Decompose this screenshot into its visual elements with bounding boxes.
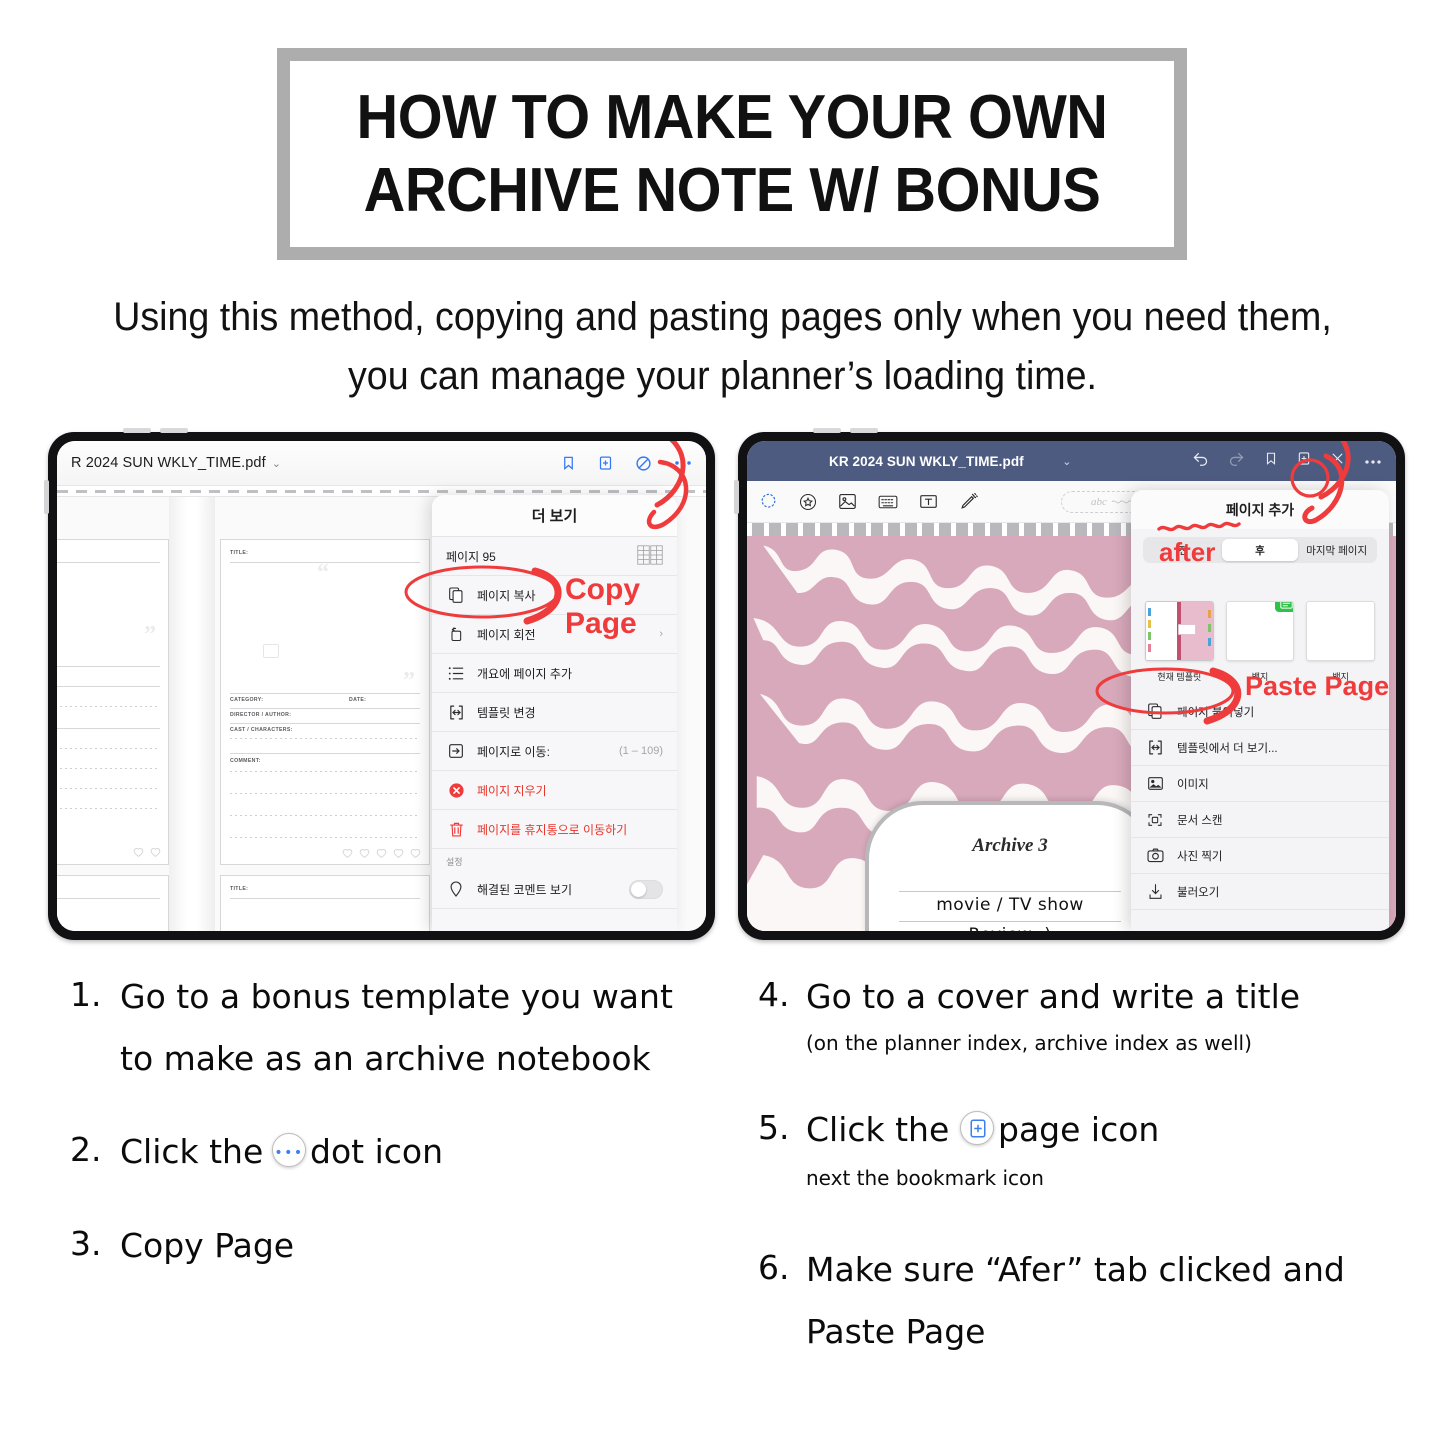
volume-button-down [850, 428, 878, 433]
copy-page-icon [446, 587, 466, 604]
menu-item-label: 개요에 페이지 추가 [477, 665, 572, 682]
heart-icon [409, 846, 422, 859]
menu-item-label: 템플릿에서 더 보기... [1177, 740, 1278, 756]
step-text-pre: Click the [806, 1108, 949, 1152]
page-range-label: (1 – 109) [619, 745, 663, 757]
trash-icon [446, 821, 466, 838]
heart-icon [358, 846, 371, 859]
step-text-line-2: Paste Page [806, 1310, 985, 1354]
undo-icon[interactable] [1192, 451, 1209, 471]
document-scan-icon [1145, 812, 1165, 828]
thumbnail-current-template[interactable] [1145, 601, 1214, 661]
left-tablet: ” [48, 432, 715, 940]
menu-section-settings: 설정 [432, 849, 677, 870]
field-label-title: TITLE: [230, 886, 248, 892]
more-dots-icon[interactable] [674, 460, 692, 466]
more-menu-popup: 더 보기 페이지 95 페이지 복사 [432, 495, 677, 931]
field-label-date: DATE: [349, 697, 366, 703]
step-text-line-1: Go to a bonus template you want [120, 975, 673, 1019]
field-label-comment: COMMENT: [230, 758, 261, 764]
redo-icon[interactable] [1228, 451, 1245, 471]
step-subtext: next the bookmark icon [806, 1165, 1044, 1191]
menu-item-import[interactable]: 불러오기 [1131, 874, 1389, 910]
segment-last-page[interactable]: 마지막 페이지 [1298, 539, 1375, 561]
add-page-icon[interactable] [960, 1111, 994, 1145]
page-title-line-1: HOW TO MAKE YOUR OWN [321, 81, 1143, 154]
selected-badge-icon [1275, 601, 1294, 612]
menu-item-label: 페이지 회전 [477, 626, 536, 643]
volume-button-up [813, 428, 841, 433]
annotation-paste-page-text: Paste Page [1245, 671, 1389, 702]
menu-item-label: 이미지 [1177, 776, 1209, 792]
menu-item-label: 문서 스캔 [1177, 812, 1223, 828]
comment-pin-icon [446, 880, 466, 898]
field-label-cast: CAST / CHARACTERS: [230, 727, 293, 733]
change-template-icon [446, 704, 466, 721]
page-grid-icon[interactable] [637, 545, 663, 568]
power-button [44, 480, 49, 514]
more-menu-title: 더 보기 [432, 495, 677, 537]
close-icon[interactable] [1330, 451, 1345, 471]
menu-page-indicator: 페이지 95 [432, 537, 677, 576]
image-placeholder-icon [263, 644, 279, 658]
text-box-icon[interactable] [919, 493, 938, 510]
heart-icon [149, 845, 162, 858]
right-tablet: Archive 3 movie / TV show Review :) [738, 432, 1405, 940]
step-text-post: page icon [998, 1108, 1159, 1152]
menu-item-label: 페이지로 이동: [477, 743, 550, 760]
page-number-label: 페이지 95 [446, 548, 496, 565]
page-subtitle-line-2: you can manage your planner’s loading ti… [100, 347, 1346, 406]
import-icon [1145, 883, 1165, 900]
cover-handwriting-line-1: movie / TV show [869, 895, 1151, 915]
document-gutter [169, 497, 215, 931]
menu-item-label: 페이지를 휴지통으로 이동하기 [477, 821, 627, 838]
rating-hearts [132, 845, 162, 858]
more-dots-icon[interactable]: ••• [272, 1133, 306, 1167]
thumbnail-label: 현재 템플릿 [1145, 670, 1214, 683]
edit-mode-icon[interactable] [635, 455, 652, 472]
step-text-line-1: Copy Page [120, 1224, 294, 1268]
menu-item-image[interactable]: 이미지 [1131, 766, 1389, 802]
doc-page-card-partial-left: ” [57, 539, 169, 865]
right-filename[interactable]: KR 2024 SUN WKLY_TIME.pdf [829, 454, 1024, 469]
archive-cover-title: Archive 3 [869, 835, 1151, 857]
menu-item-label: 불러오기 [1177, 884, 1219, 900]
menu-item-change-template[interactable]: 템플릿 변경 [432, 693, 677, 732]
page-title-box: HOW TO MAKE YOUR OWN ARCHIVE NOTE W/ BON… [277, 48, 1187, 260]
poster-root: HOW TO MAKE YOUR OWN ARCHIVE NOTE W/ BON… [0, 0, 1445, 1445]
step-number: 6. [758, 1248, 790, 1287]
add-page-icon[interactable] [598, 454, 613, 472]
field-label-director: DIRECTOR / AUTHOR: [230, 712, 291, 718]
menu-item-document-scan[interactable]: 문서 스캔 [1131, 802, 1389, 838]
field-label-title: TITLE: [230, 550, 248, 556]
left-tablet-screen: ” [57, 441, 706, 931]
menu-item-label: 해결된 코멘트 보기 [477, 881, 572, 898]
menu-item-label: 템플릿 변경 [477, 704, 536, 721]
thumbnail-blank-2[interactable] [1306, 601, 1375, 661]
annotation-copy-page-text: Copy Page [565, 573, 706, 641]
annotation-after-text: after [1159, 537, 1215, 568]
step-text-line-1: Go to a cover and write a title [806, 975, 1300, 1019]
chevron-down-icon[interactable]: ⌄ [1062, 455, 1071, 468]
heart-icon [375, 846, 388, 859]
menu-item-more-templates[interactable]: 템플릿에서 더 보기... [1131, 730, 1389, 766]
step-text-line-1: Make sure “Afer” tab clicked and [806, 1248, 1345, 1292]
volume-button-up [123, 428, 151, 433]
menu-item-goto-page[interactable]: 페이지로 이동: (1 – 109) [432, 732, 677, 771]
cover-handwriting-line-2: Review :) [869, 925, 1151, 931]
bookmark-icon[interactable] [561, 454, 576, 472]
keyboard-icon[interactable] [878, 494, 898, 510]
power-button [734, 480, 739, 514]
menu-item-label: 페이지 지우기 [477, 782, 547, 799]
step-number: 4. [758, 975, 790, 1014]
more-templates-icon [1145, 739, 1165, 756]
page-title-line-2: ARCHIVE NOTE W/ BONUS [321, 154, 1143, 227]
step-text-pre: Click the [120, 1130, 263, 1174]
paste-page-icon [1145, 703, 1165, 720]
step-number: 1. [70, 975, 102, 1014]
left-filename[interactable]: R 2024 SUN WKLY_TIME.pdf [71, 455, 266, 471]
heart-icon [392, 846, 405, 859]
add-page-icon[interactable] [1297, 450, 1311, 472]
rotate-page-icon [446, 626, 466, 643]
bookmark-icon[interactable] [1264, 450, 1278, 472]
chevron-down-icon[interactable]: ⌄ [272, 457, 281, 470]
camera-icon [1145, 848, 1165, 863]
outline-add-icon [446, 666, 466, 681]
step-subtext: (on the planner index, archive index as … [806, 1030, 1252, 1056]
resolved-comments-toggle[interactable] [629, 880, 663, 899]
step-text-post: dot icon [310, 1130, 443, 1174]
menu-item-take-photo[interactable]: 사진 찍기 [1131, 838, 1389, 874]
menu-item-show-resolved-comments[interactable]: 해결된 코멘트 보기 [432, 870, 677, 909]
heart-icon [132, 845, 145, 858]
highlighter-icon[interactable] [959, 492, 978, 511]
volume-button-down [160, 428, 188, 433]
right-tablet-screen: Archive 3 movie / TV show Review :) [747, 441, 1396, 931]
lasso-icon[interactable] [759, 492, 778, 511]
doc-page-card-main-2: TITLE: [220, 875, 430, 931]
step-number: 5. [758, 1108, 790, 1147]
menu-item-move-to-trash[interactable]: 페이지를 휴지통으로 이동하기 [432, 810, 677, 849]
step-text-line-2: to make as an archive notebook [120, 1037, 651, 1081]
doc-page-card-main: TITLE: “ ” CATEGORY: DATE: DIRECTOR / AU… [220, 539, 430, 865]
menu-item-label: 사진 찍기 [1177, 848, 1223, 864]
goto-page-icon [446, 743, 466, 759]
doc-page-card-partial-left-2 [57, 875, 169, 931]
right-toolbar: KR 2024 SUN WKLY_TIME.pdf ⌄ [747, 441, 1396, 481]
menu-item-label: 페이지 복사 [477, 587, 536, 604]
more-dots-icon[interactable] [1364, 452, 1382, 470]
page-subtitle-line-1: Using this method, copying and pasting p… [100, 288, 1346, 347]
archive-cover-card: Archive 3 movie / TV show Review :) [865, 801, 1155, 931]
page-subtitle: Using this method, copying and pasting p… [100, 288, 1346, 406]
menu-item-erase-page[interactable]: 페이지 지우기 [432, 771, 677, 810]
image-icon [1145, 776, 1165, 791]
image-icon[interactable] [838, 493, 857, 510]
abc-placeholder: abc [1091, 496, 1107, 508]
erase-page-icon [446, 782, 466, 799]
step-number: 3. [70, 1224, 102, 1263]
step-number: 2. [70, 1130, 102, 1169]
segment-after[interactable]: 후 [1222, 539, 1299, 561]
rating-hearts [341, 846, 422, 859]
template-thumbnails [1131, 585, 1389, 661]
thumbnail-blank-1[interactable] [1226, 601, 1295, 661]
field-label-category: CATEGORY: [230, 697, 263, 703]
left-toolbar: R 2024 SUN WKLY_TIME.pdf ⌄ [57, 441, 706, 485]
sticker-icon[interactable] [799, 493, 817, 511]
cover-write-rule [899, 921, 1121, 922]
menu-item-add-to-outline[interactable]: 개요에 페이지 추가 [432, 654, 677, 693]
add-page-title: 페이지 추가 [1131, 490, 1389, 529]
heart-icon [341, 846, 354, 859]
menu-item-label: 페이지 붙여넣기 [1177, 704, 1254, 720]
cover-write-rule [899, 891, 1121, 892]
